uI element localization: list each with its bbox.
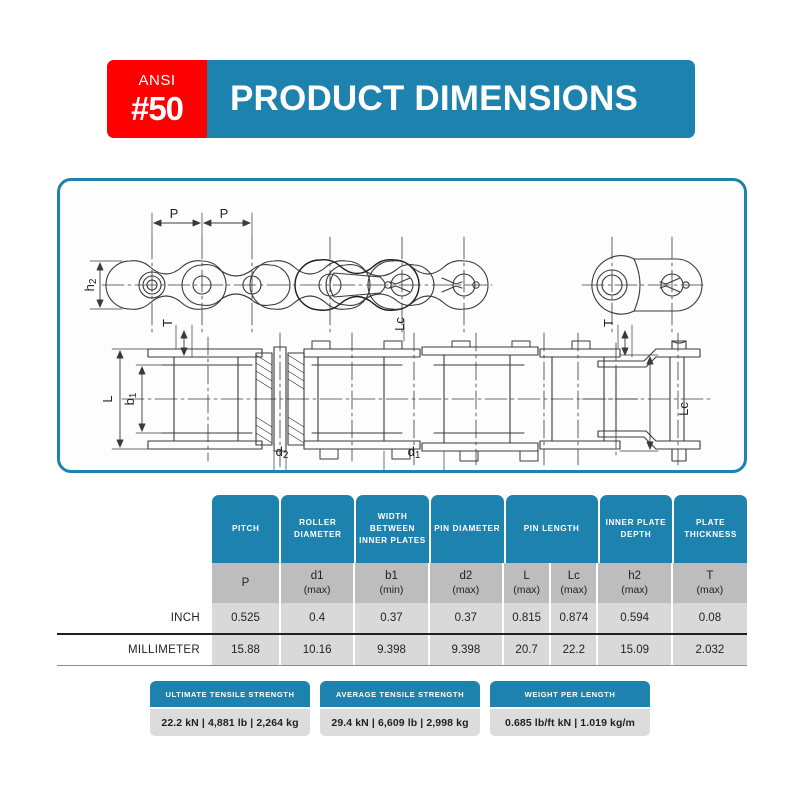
qualifier-plate-thickness: (max) (696, 584, 723, 597)
cell-inch-pin-length-lc: 0.874 (551, 603, 598, 633)
chain-number: #50 (131, 92, 183, 125)
card-title: AVERAGE TENSILE STRENGTH (320, 681, 480, 707)
label-plate-depth: h2 (82, 278, 99, 291)
symbol-cell-inner-plate-depth: h2 (max) (598, 563, 672, 603)
label-thickness-left: T (160, 319, 175, 327)
column-header-width-between-inner-plates: WIDTH BETWEEN INNER PLATES (356, 495, 429, 563)
column-header-pin-length: PIN LENGTH (506, 495, 598, 563)
dimensions-table: PITCH ROLLER DIAMETER WIDTH BETWEEN INNE… (57, 495, 747, 666)
cell-inch-roller-diameter: 0.4 (281, 603, 355, 633)
symbol-cell-inner-width: b1 (min) (355, 563, 429, 603)
card-value: 0.685 lb/ft kN | 1.019 kg/m (490, 709, 650, 736)
cell-inch-pin-diameter: 0.37 (430, 603, 504, 633)
header-spacer (57, 495, 212, 563)
column-header-plate-thickness: PLATE THICKNESS (674, 495, 747, 563)
label-cotter-top: Lc (392, 317, 407, 331)
page-title: PRODUCT DIMENSIONS (207, 60, 695, 138)
symbol-inner-plate-depth: h2 (628, 569, 641, 583)
cell-mm-roller-diameter: 10.16 (281, 635, 355, 665)
symbol-cell-pin-length-l: L (max) (504, 563, 551, 603)
column-header-pitch: PITCH (212, 495, 279, 563)
qualifier-pin-length-l: (max) (513, 584, 540, 597)
cell-mm-plate-thickness: 2.032 (673, 635, 747, 665)
label-thickness-right: T (601, 319, 616, 327)
cell-inch-pin-length-l: 0.815 (504, 603, 551, 633)
symbol-cell-pin-length-lc: Lc (max) (551, 563, 598, 603)
symbol-pin-length-l: L (523, 569, 529, 583)
table-bottom-rule (57, 665, 747, 666)
symbol-pin-length-lc: Lc (568, 569, 580, 583)
cell-mm-pin-diameter: 9.398 (430, 635, 504, 665)
symbol-spacer (57, 563, 212, 603)
label-pin-length: L (100, 395, 115, 402)
card-weight-per-length: WEIGHT PER LENGTH 0.685 lb/ft kN | 1.019… (490, 681, 650, 736)
label-roller-diameter: d1 (408, 444, 421, 461)
product-dimensions-sheet: ANSI #50 PRODUCT DIMENSIONS (0, 0, 800, 800)
label-pin-diameter: d2 (276, 444, 289, 461)
row-label-millimeter: MILLIMETER (57, 635, 212, 665)
qualifier-inner-width: (min) (380, 584, 404, 597)
label-inner-width: b1 (122, 392, 139, 405)
cell-inch-inner-plate-depth: 0.594 (598, 603, 672, 633)
technical-drawing-panel: P P h2 T T L b1 Lc Lc d2 d1 (57, 178, 747, 473)
symbol-inner-width: b1 (385, 569, 398, 583)
cell-mm-pin-length-lc: 22.2 (551, 635, 598, 665)
cell-mm-pitch: 15.88 (212, 635, 281, 665)
card-title: ULTIMATE TENSILE STRENGTH (150, 681, 310, 707)
symbol-cell-pin-diameter: d2 (max) (430, 563, 504, 603)
standard-badge: ANSI #50 (107, 60, 207, 138)
symbol-cell-roller-diameter: d1 (max) (281, 563, 355, 603)
page-header: ANSI #50 PRODUCT DIMENSIONS (107, 60, 695, 138)
symbol-plate-thickness: T (706, 569, 713, 583)
symbol-pitch: P (242, 576, 250, 590)
cell-inch-pitch: 0.525 (212, 603, 281, 633)
card-value: 29.4 kN | 6,609 lb | 2,998 kg (320, 709, 480, 736)
row-label-inch: INCH (57, 603, 212, 633)
table-header-row: PITCH ROLLER DIAMETER WIDTH BETWEEN INNE… (57, 495, 747, 563)
qualifier-pin-diameter: (max) (452, 584, 479, 597)
table-row: INCH 0.525 0.4 0.37 0.37 0.815 0.874 0.5… (57, 603, 747, 633)
roller-chain-drawing: P P h2 T T L b1 Lc Lc d2 d1 (60, 181, 744, 470)
column-header-roller-diameter: ROLLER DIAMETER (281, 495, 354, 563)
cell-inch-plate-thickness: 0.08 (673, 603, 747, 633)
qualifier-pin-length-lc: (max) (560, 584, 587, 597)
card-value: 22.2 kN | 4,881 lb | 2,264 kg (150, 709, 310, 736)
standard-name: ANSI (138, 73, 175, 88)
qualifier-inner-plate-depth: (max) (621, 584, 648, 597)
qualifier-roller-diameter: (max) (304, 584, 331, 597)
card-title: WEIGHT PER LENGTH (490, 681, 650, 707)
symbol-cell-pitch: P (212, 563, 281, 603)
cell-mm-pin-length-l: 20.7 (504, 635, 551, 665)
symbol-pin-diameter: d2 (459, 569, 472, 583)
label-pitch-1: P (170, 206, 179, 221)
symbol-roller-diameter: d1 (311, 569, 324, 583)
card-ultimate-tensile-strength: ULTIMATE TENSILE STRENGTH 22.2 kN | 4,88… (150, 681, 310, 736)
column-header-pin-diameter: PIN DIAMETER (431, 495, 504, 563)
cell-mm-inner-width: 9.398 (355, 635, 429, 665)
label-cotter-right: Lc (676, 402, 691, 416)
table-row: MILLIMETER 15.88 10.16 9.398 9.398 20.7 … (57, 635, 747, 665)
table-symbol-row: P d1 (max) b1 (min) d2 (max) L (max) Lc … (57, 563, 747, 603)
cell-inch-inner-width: 0.37 (355, 603, 429, 633)
card-average-tensile-strength: AVERAGE TENSILE STRENGTH 29.4 kN | 6,609… (320, 681, 480, 736)
strength-cards: ULTIMATE TENSILE STRENGTH 22.2 kN | 4,88… (150, 681, 650, 736)
label-pitch-2: P (220, 206, 229, 221)
cell-mm-inner-plate-depth: 15.09 (598, 635, 672, 665)
symbol-cell-plate-thickness: T (max) (673, 563, 747, 603)
column-header-inner-plate-depth: INNER PLATE DEPTH (600, 495, 673, 563)
